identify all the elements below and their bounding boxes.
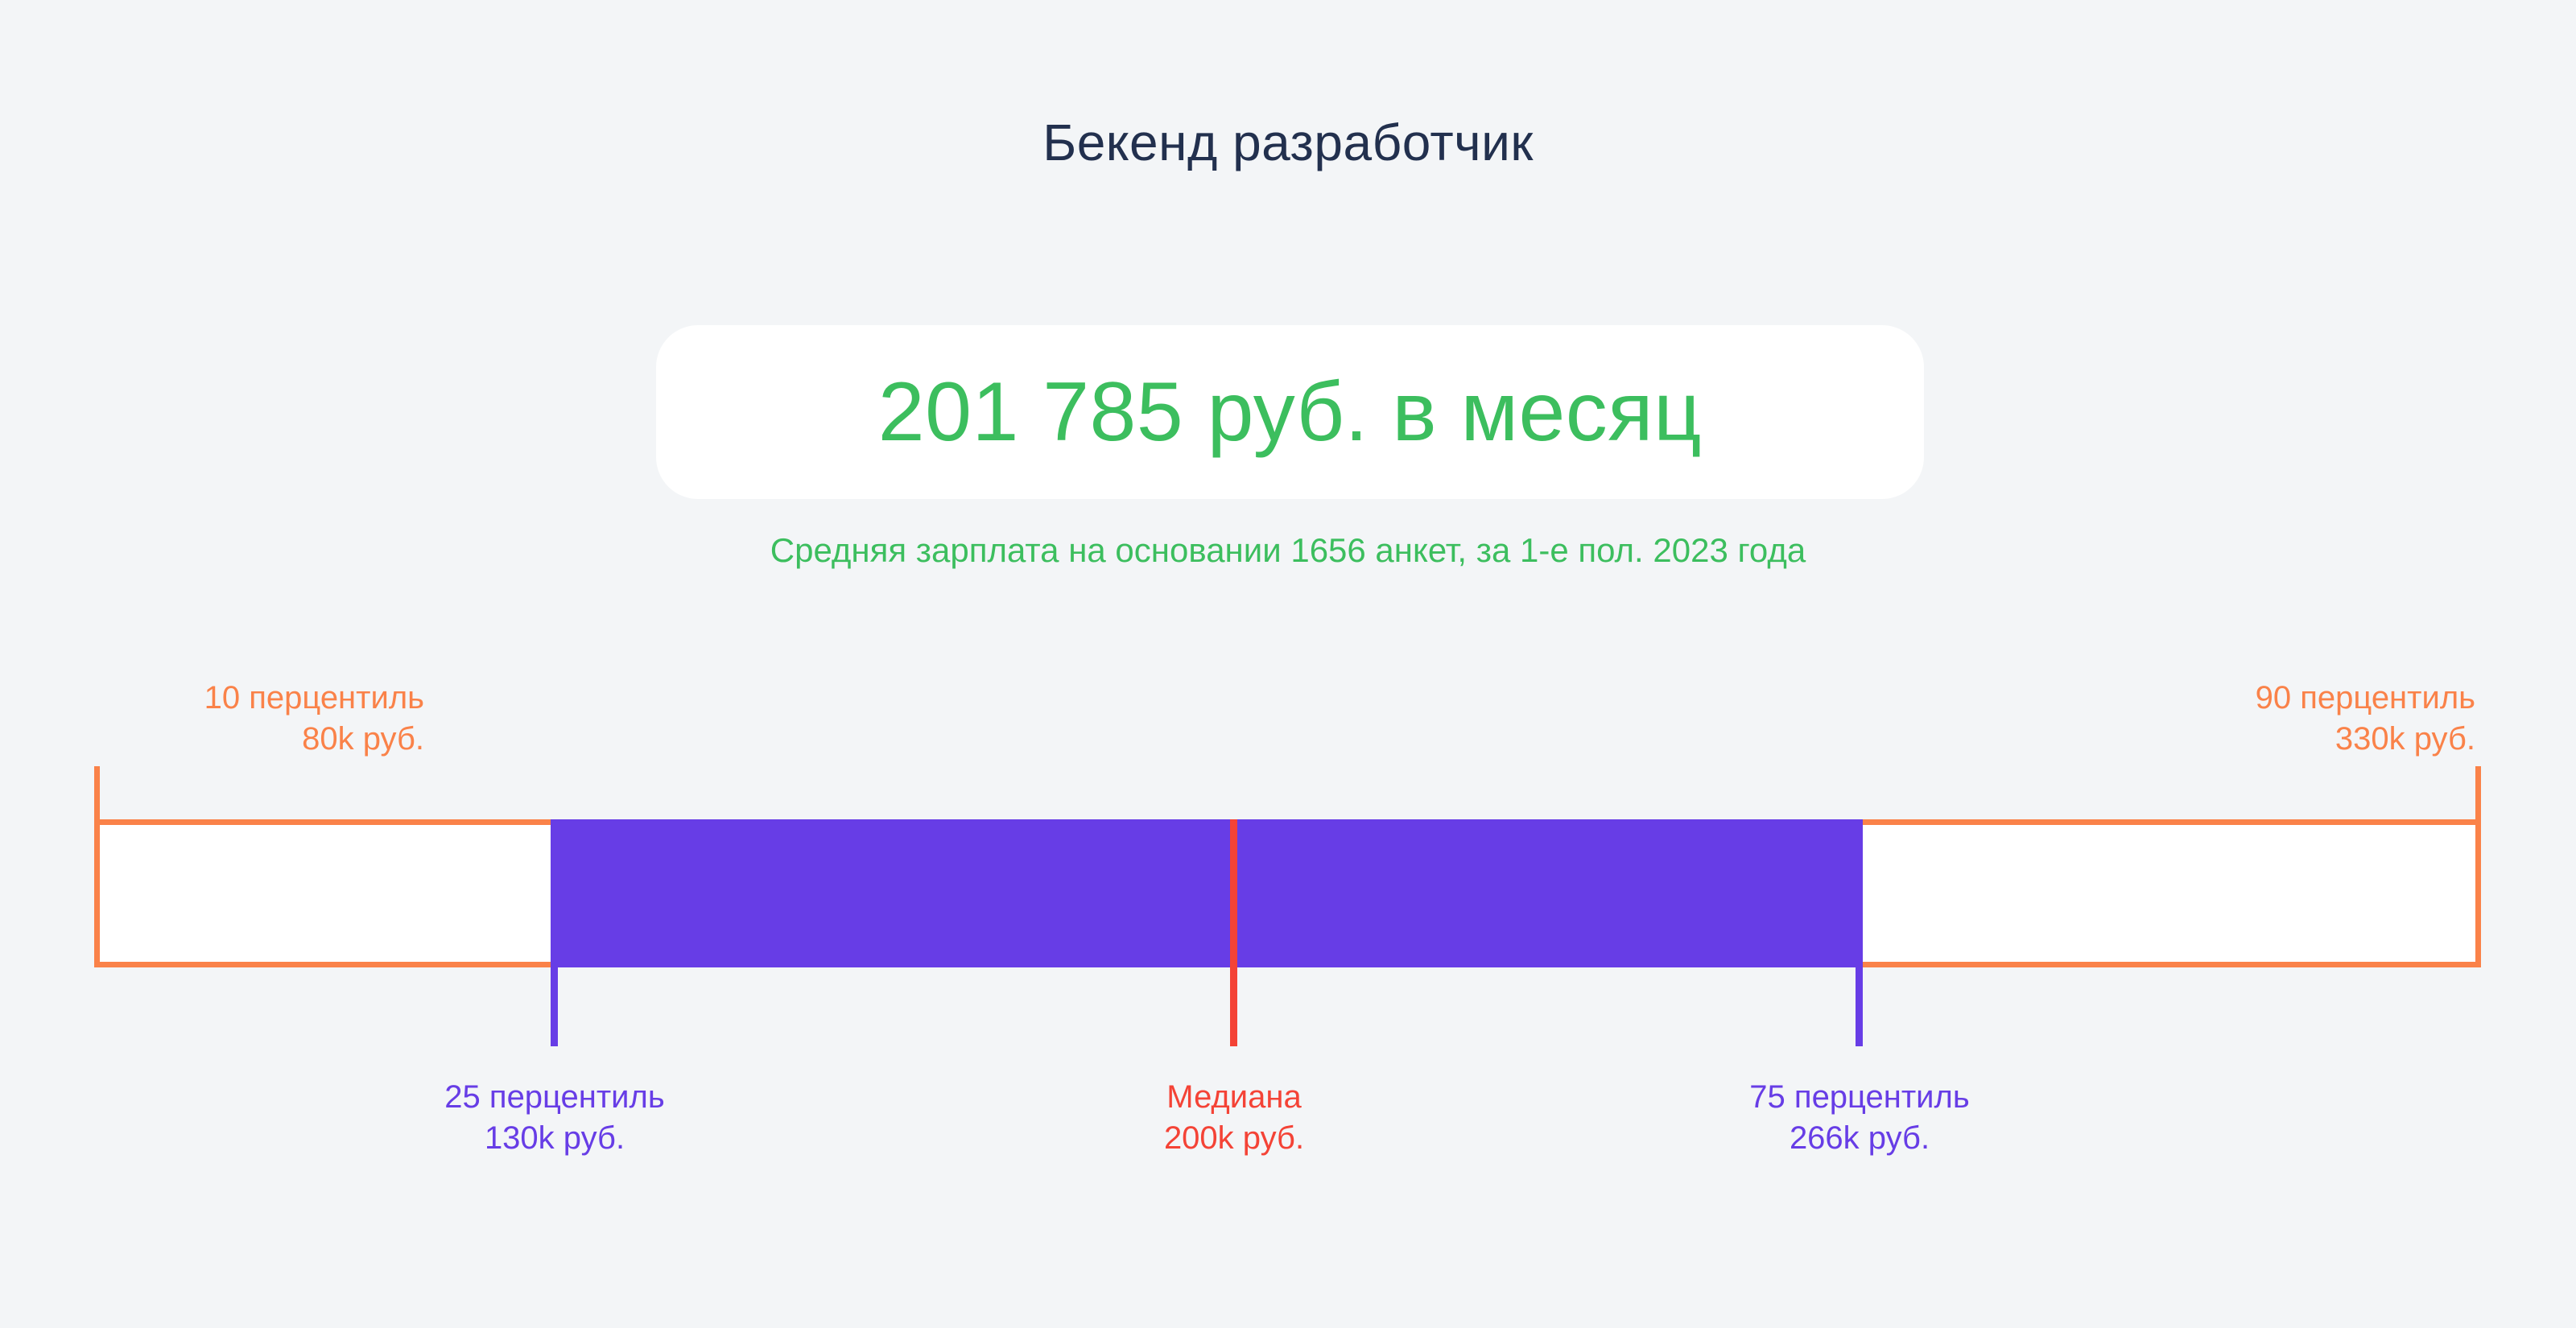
label-percentile-10: 10 перцентиль 80k руб. xyxy=(94,678,424,760)
label-percentile-90-value: 330k руб. xyxy=(2145,719,2475,760)
whisker-cap-p90 xyxy=(2475,766,2481,823)
label-percentile-90: 90 перцентиль 330k руб. xyxy=(2145,678,2475,760)
label-percentile-25-title: 25 перцентиль xyxy=(390,1077,720,1118)
label-percentile-10-value: 80k руб. xyxy=(94,719,424,760)
interquartile-box xyxy=(551,819,1863,967)
label-median: Медиана 200k руб. xyxy=(1069,1077,1399,1159)
whisker-cap-p10 xyxy=(94,766,100,823)
label-percentile-10-title: 10 перцентиль xyxy=(94,678,424,719)
quartile-tick-p75 xyxy=(1856,967,1863,1046)
label-median-title: Медиана xyxy=(1069,1077,1399,1118)
label-median-value: 200k руб. xyxy=(1069,1118,1399,1159)
median-line xyxy=(1230,819,1237,1046)
label-percentile-90-title: 90 перцентиль xyxy=(2145,678,2475,719)
quartile-tick-p25 xyxy=(551,967,558,1046)
label-percentile-25-value: 130k руб. xyxy=(390,1118,720,1159)
label-percentile-75: 75 перцентиль 266k руб. xyxy=(1695,1077,2025,1159)
label-percentile-25: 25 перцентиль 130k руб. xyxy=(390,1077,720,1159)
salary-boxplot-chart: 10 перцентиль 80k руб. 90 перцентиль 330… xyxy=(0,0,2576,1328)
label-percentile-75-value: 266k руб. xyxy=(1695,1118,2025,1159)
label-percentile-75-title: 75 перцентиль xyxy=(1695,1077,2025,1118)
